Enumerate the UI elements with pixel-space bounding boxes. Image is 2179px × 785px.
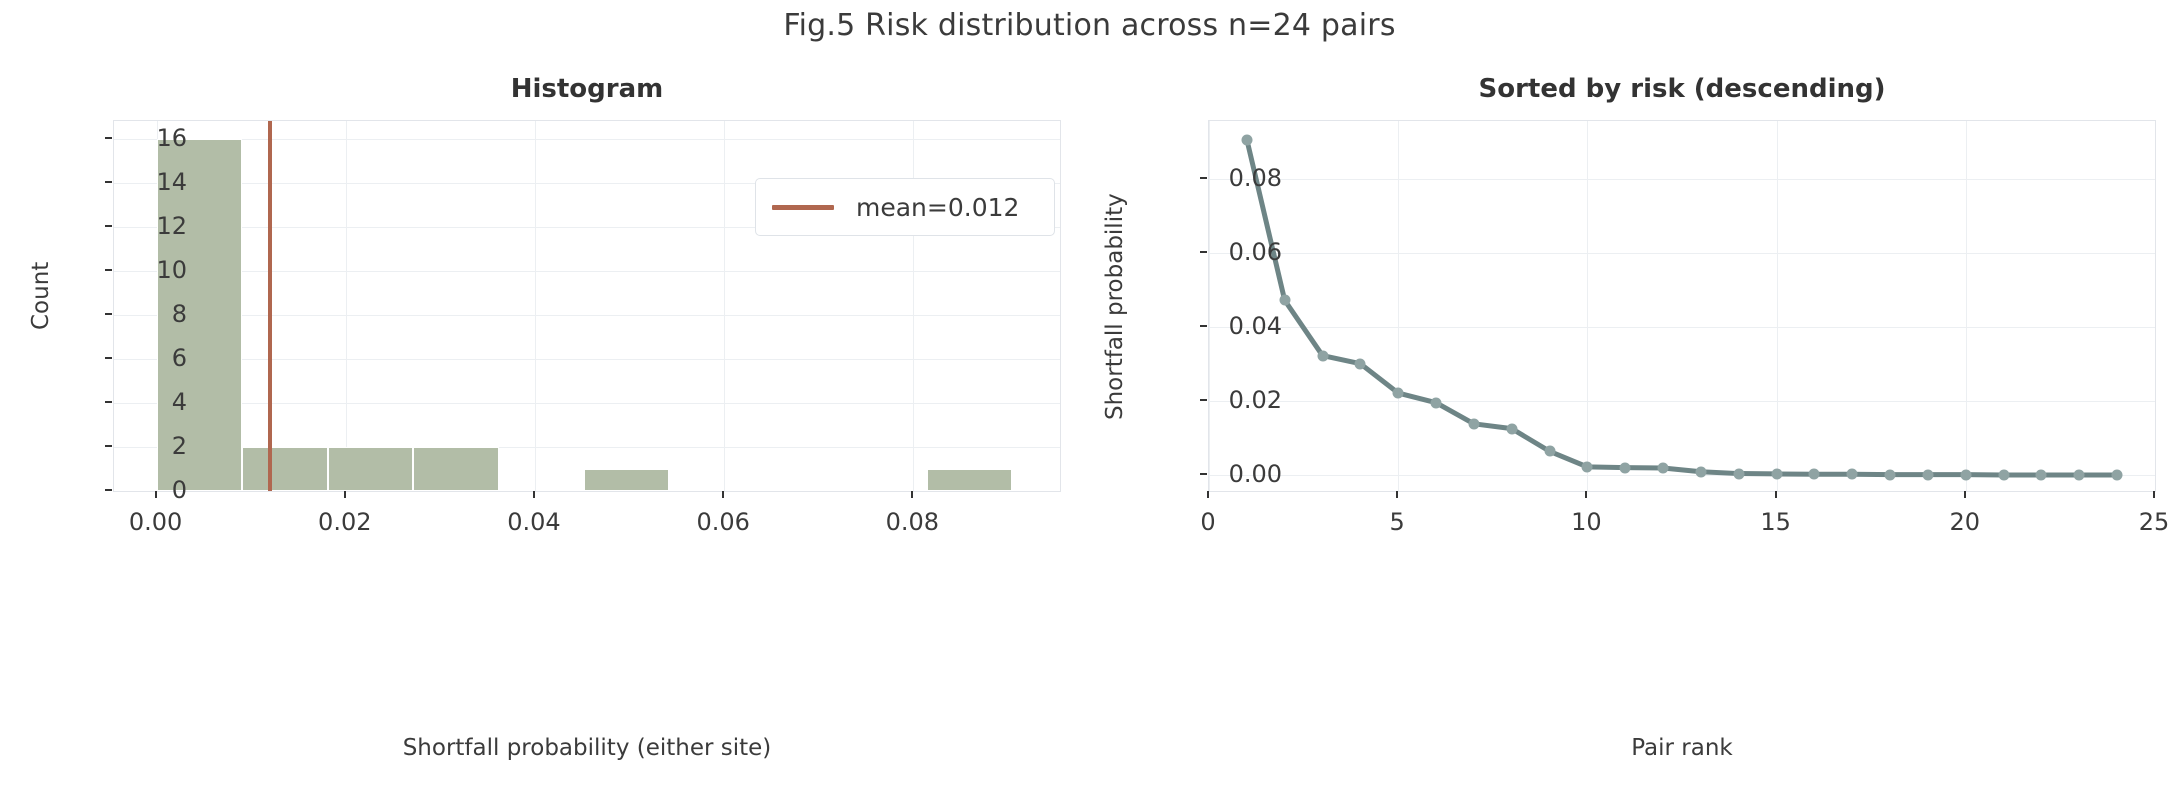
y-tick-mark <box>1200 399 1207 401</box>
data-point-marker <box>1279 295 1290 306</box>
data-point-marker <box>1620 462 1631 473</box>
histogram-ylabel: Count <box>28 262 54 330</box>
data-point-marker <box>1468 418 1479 429</box>
x-tick-label: 0.06 <box>696 508 749 536</box>
x-tick-mark <box>911 491 913 498</box>
gridline-horizontal <box>114 491 1060 492</box>
gridline-horizontal <box>114 139 1060 140</box>
x-tick-mark <box>1207 491 1209 498</box>
mean-line-swatch <box>772 205 834 210</box>
histogram-legend[interactable]: mean=0.012 <box>755 178 1055 236</box>
histogram-plot-area <box>113 120 1061 492</box>
sorted-risk-plot-area <box>1208 120 2156 492</box>
x-tick-label: 20 <box>1950 508 1981 536</box>
x-tick-label: 10 <box>1571 508 1602 536</box>
x-tick-mark <box>1775 491 1777 498</box>
data-point-marker <box>1658 462 1669 473</box>
x-tick-label: 5 <box>1390 508 1405 536</box>
y-tick-mark <box>1200 177 1207 179</box>
mean-vline <box>268 121 272 491</box>
data-point-marker <box>1847 469 1858 480</box>
y-tick-mark <box>105 181 112 183</box>
y-tick-mark <box>1200 325 1207 327</box>
x-tick-label: 0.02 <box>318 508 371 536</box>
data-point-marker <box>1733 468 1744 479</box>
x-tick-mark <box>1396 491 1398 498</box>
data-point-marker <box>1960 469 1971 480</box>
y-tick-mark <box>105 401 112 403</box>
subplot-sorted-risk: Sorted by risk (descending) <box>1208 120 2156 492</box>
gridline-vertical <box>724 121 725 491</box>
sorted-risk-line <box>1209 121 2155 491</box>
x-tick-mark <box>1585 491 1587 498</box>
data-point-marker <box>1998 470 2009 481</box>
subplot-histogram: Histogram <box>113 120 1061 492</box>
data-point-marker <box>2036 470 2047 481</box>
gridline-vertical <box>535 121 536 491</box>
data-point-marker <box>1582 461 1593 472</box>
data-point-marker <box>1885 469 1896 480</box>
x-tick-label: 0.08 <box>886 508 939 536</box>
x-tick-label: 0.00 <box>129 508 182 536</box>
y-tick-mark <box>105 489 112 491</box>
data-point-marker <box>1431 397 1442 408</box>
gridline-horizontal <box>114 403 1060 404</box>
data-point-marker <box>2112 470 2123 481</box>
legend-label-mean: mean=0.012 <box>856 193 1019 222</box>
histogram-title: Histogram <box>113 74 1061 104</box>
gridline-vertical <box>346 121 347 491</box>
y-tick-mark <box>1200 473 1207 475</box>
data-point-marker <box>1393 388 1404 399</box>
gridline-vertical <box>2155 121 2156 491</box>
x-tick-mark <box>533 491 535 498</box>
data-point-marker <box>1355 358 1366 369</box>
y-tick-mark <box>1200 251 1207 253</box>
y-tick-mark <box>105 137 112 139</box>
gridline-horizontal <box>114 315 1060 316</box>
data-point-marker <box>1809 469 1820 480</box>
x-tick-mark <box>722 491 724 498</box>
sorted-risk-xlabel: Pair rank <box>1208 735 2156 761</box>
x-tick-label: 0 <box>1200 508 1215 536</box>
x-tick-label: 25 <box>2139 508 2170 536</box>
data-point-marker <box>1544 446 1555 457</box>
x-tick-mark <box>155 491 157 498</box>
figure-suptitle: Fig.5 Risk distribution across n=24 pair… <box>0 8 2179 43</box>
y-tick-mark <box>105 445 112 447</box>
histogram-bar <box>328 447 413 491</box>
data-point-marker <box>2074 470 2085 481</box>
histogram-bar <box>927 469 1012 491</box>
data-point-marker <box>1922 469 1933 480</box>
data-point-marker <box>1695 466 1706 477</box>
histogram-bar <box>242 447 328 491</box>
histogram-xlabel: Shortfall probability (either site) <box>113 735 1061 761</box>
x-tick-mark <box>2153 491 2155 498</box>
data-point-marker <box>1506 423 1517 434</box>
data-point-marker <box>1317 350 1328 361</box>
histogram-bar <box>584 469 669 491</box>
x-tick-mark <box>344 491 346 498</box>
gridline-horizontal <box>114 359 1060 360</box>
gridline-vertical <box>913 121 914 491</box>
sorted-risk-ylabel: Shortfall probability <box>1102 193 1128 420</box>
gridline-horizontal <box>114 271 1060 272</box>
y-tick-mark <box>105 357 112 359</box>
y-tick-mark <box>105 269 112 271</box>
x-tick-mark <box>1964 491 1966 498</box>
data-point-marker <box>1241 134 1252 145</box>
sorted-risk-title: Sorted by risk (descending) <box>1208 74 2156 104</box>
y-tick-mark <box>105 313 112 315</box>
x-tick-label: 0.04 <box>507 508 560 536</box>
y-tick-mark <box>105 225 112 227</box>
data-point-marker <box>1771 468 1782 479</box>
figure-canvas: Fig.5 Risk distribution across n=24 pair… <box>0 0 2179 785</box>
histogram-bar <box>413 447 499 491</box>
x-tick-label: 15 <box>1760 508 1791 536</box>
